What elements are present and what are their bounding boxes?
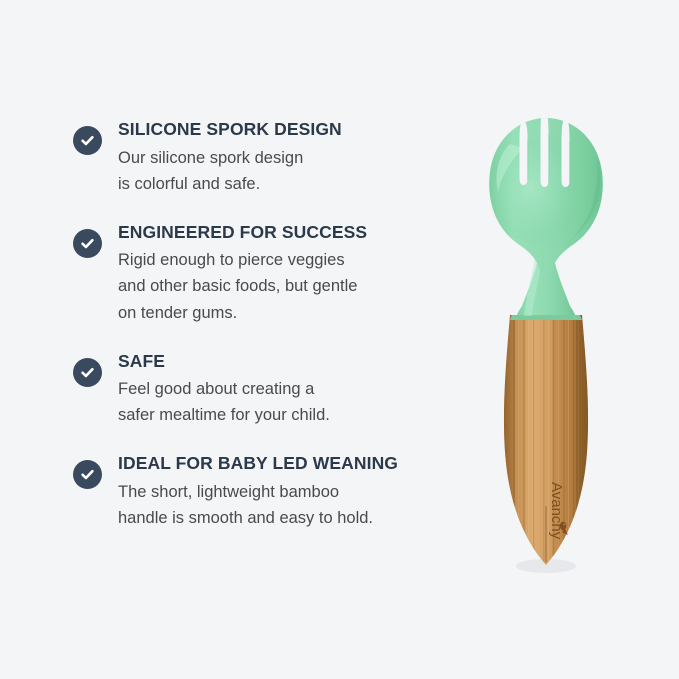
feature-description-line: Our silicone spork design [118, 145, 458, 171]
check-circle-icon [73, 126, 102, 155]
feature-description: Our silicone spork design is colorful an… [118, 145, 458, 197]
feature-item: SILICONE SPORK DESIGN Our silicone spork… [73, 118, 458, 197]
feature-title: SAFE [118, 350, 458, 374]
feature-title: IDEAL FOR BABY LED WEANING [118, 452, 458, 476]
feature-description-line: The short, lightweight bamboo [118, 479, 458, 505]
brand-logo: Avanchy [548, 482, 568, 540]
feature-description-line: safer mealtime for your child. [118, 402, 458, 428]
feature-description: Rigid enough to pierce veggies and other… [118, 247, 458, 325]
feature-description-line: handle is smooth and easy to hold. [118, 505, 458, 531]
feature-description-line: Rigid enough to pierce veggies [118, 247, 458, 273]
feature-description-line: Feel good about creating a [118, 376, 458, 402]
feature-description: The short, lightweight bamboo handle is … [118, 479, 458, 531]
check-circle-icon [73, 460, 102, 489]
check-circle-icon [73, 358, 102, 387]
spork-head [489, 112, 603, 272]
feature-title: SILICONE SPORK DESIGN [118, 118, 458, 142]
feature-description-line: and other basic foods, but gentle [118, 273, 458, 299]
feature-description-line: is colorful and safe. [118, 171, 458, 197]
feature-item: SAFE Feel good about creating a safer me… [73, 350, 458, 429]
feature-description: Feel good about creating a safer mealtim… [118, 376, 458, 428]
feature-description-line: on tender gums. [118, 300, 458, 326]
feature-title: ENGINEERED FOR SUCCESS [118, 221, 458, 245]
check-circle-icon [73, 229, 102, 258]
feature-list: SILICONE SPORK DESIGN Our silicone spork… [73, 118, 458, 531]
feature-item: ENGINEERED FOR SUCCESS Rigid enough to p… [73, 221, 458, 326]
product-infographic: SILICONE SPORK DESIGN Our silicone spork… [0, 0, 679, 679]
bamboo-handle: Avanchy [504, 310, 589, 572]
product-image: Avanchy [466, 100, 626, 580]
feature-item: IDEAL FOR BABY LED WEANING The short, li… [73, 452, 458, 531]
brand-name: Avanchy [548, 482, 565, 540]
